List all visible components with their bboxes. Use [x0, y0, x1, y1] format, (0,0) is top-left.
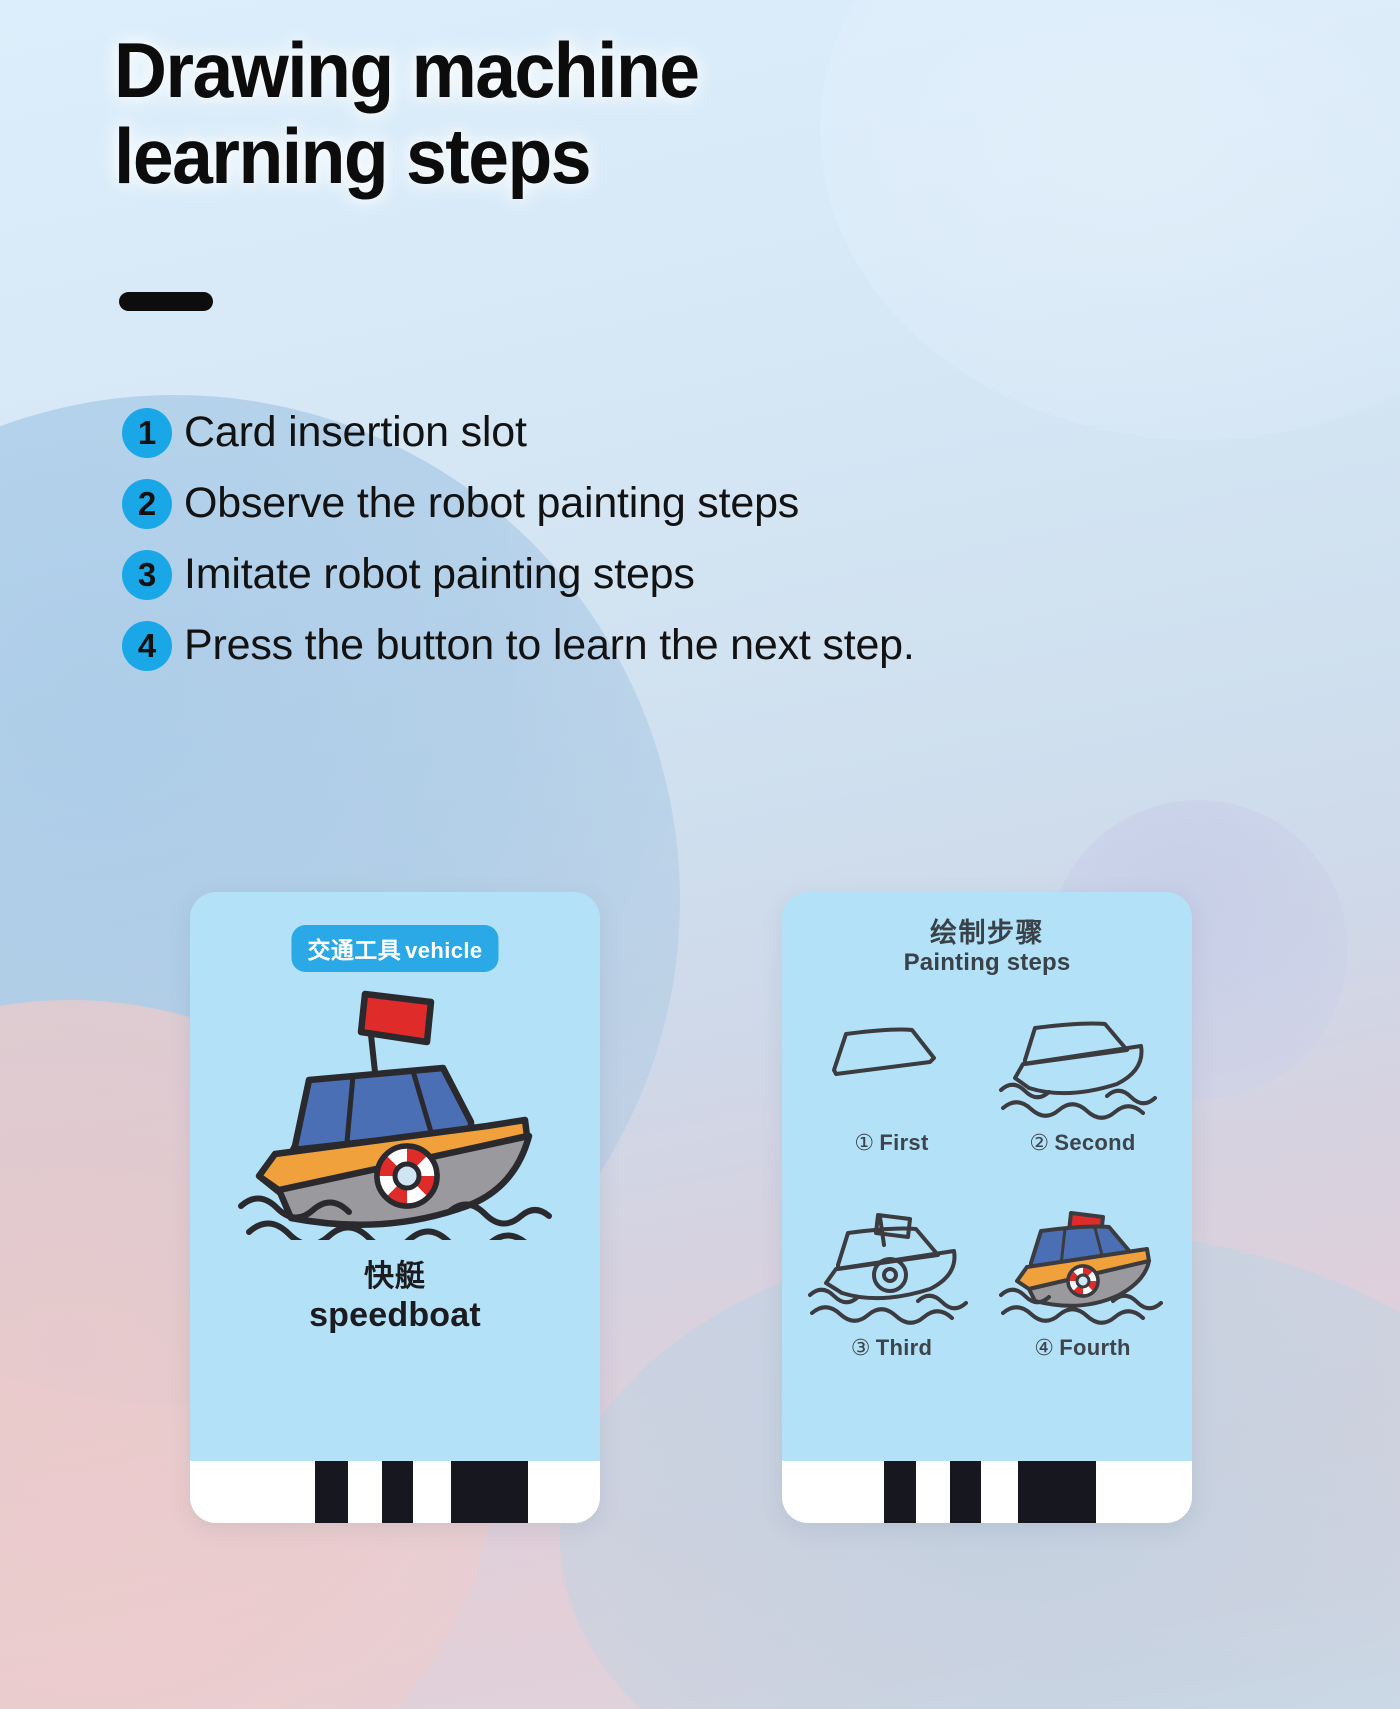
page-title-line-1: Drawing machine	[114, 28, 922, 114]
list-item: 1 Card insertion slot	[122, 397, 1242, 468]
category-pill-label-en: vehicle	[405, 938, 482, 963]
category-pill: 交通工具vehicle	[291, 925, 498, 972]
painting-steps-heading-en: Painting steps	[782, 948, 1192, 978]
life-ring-icon	[1068, 1266, 1098, 1296]
step-3-sketch	[804, 1209, 979, 1329]
step-number-badge: 1	[122, 408, 172, 458]
painting-step-label: ③Third	[851, 1335, 933, 1361]
painting-steps-grid: ①First ②Second	[796, 1004, 1178, 1414]
step-label: Observe the robot painting steps	[184, 479, 799, 528]
step-marker-icon: ③	[851, 1335, 871, 1360]
step-marker-icon: ①	[854, 1130, 874, 1155]
step-4-sketch	[995, 1209, 1170, 1329]
list-item: 4 Press the button to learn the next ste…	[122, 610, 1242, 681]
step-marker-icon: ②	[1029, 1130, 1049, 1155]
step-number-badge: 4	[122, 621, 172, 671]
step-name: Third	[876, 1335, 933, 1360]
step-number-badge: 2	[122, 479, 172, 529]
painting-steps-heading-zh: 绘制步骤	[782, 918, 1192, 948]
painting-step: ②Second	[987, 1004, 1178, 1209]
step-label: Press the button to learn the next step.	[184, 621, 915, 670]
page-title-line-2: learning steps	[114, 114, 922, 200]
step-label: Imitate robot painting steps	[184, 550, 695, 599]
card-barcode-strip	[190, 1461, 600, 1523]
step-number-badge: 3	[122, 550, 172, 600]
step-name: First	[879, 1130, 928, 1155]
step-2-sketch	[995, 1004, 1170, 1124]
subject-name-en: speedboat	[190, 1295, 600, 1336]
list-item: 3 Imitate robot painting steps	[122, 539, 1242, 610]
painting-step-label: ④Fourth	[1034, 1335, 1130, 1361]
barcode-bar	[884, 1461, 916, 1523]
barcode-bar	[382, 1461, 413, 1523]
barcode-bar	[451, 1461, 528, 1523]
subject-name-zh: 快艇	[190, 1260, 600, 1295]
step-1-sketch	[804, 1004, 979, 1124]
list-item: 2 Observe the robot painting steps	[122, 468, 1242, 539]
step-marker-icon: ④	[1034, 1335, 1054, 1360]
vehicle-card[interactable]: 交通工具vehicle	[190, 892, 600, 1523]
title-underline-rule	[119, 292, 213, 311]
life-ring-icon	[377, 1146, 437, 1206]
step-name: Second	[1054, 1130, 1135, 1155]
painting-step: ④Fourth	[987, 1209, 1178, 1414]
step-name: Fourth	[1059, 1335, 1130, 1360]
painting-step-label: ①First	[854, 1130, 928, 1156]
page-title: Drawing machine learning steps	[114, 28, 922, 200]
painting-step: ①First	[796, 1004, 987, 1209]
painting-step: ③Third	[796, 1209, 987, 1414]
barcode-bar	[1018, 1461, 1096, 1523]
barcode-bar	[315, 1461, 348, 1523]
painting-steps-card[interactable]: 绘制步骤 Painting steps ①First	[782, 892, 1192, 1523]
card-barcode-strip	[782, 1461, 1192, 1523]
poster-page: Drawing machine learning steps 1 Card in…	[0, 0, 1400, 1709]
instruction-list: 1 Card insertion slot 2 Observe the robo…	[122, 397, 1242, 681]
barcode-bar	[950, 1461, 981, 1523]
painting-steps-heading: 绘制步骤 Painting steps	[782, 918, 1192, 978]
subject-caption: 快艇 speedboat	[190, 1260, 600, 1335]
speedboat-illustration	[235, 980, 555, 1240]
step-label: Card insertion slot	[184, 408, 527, 457]
category-pill-label-zh: 交通工具	[307, 937, 401, 963]
painting-step-label: ②Second	[1029, 1130, 1135, 1156]
